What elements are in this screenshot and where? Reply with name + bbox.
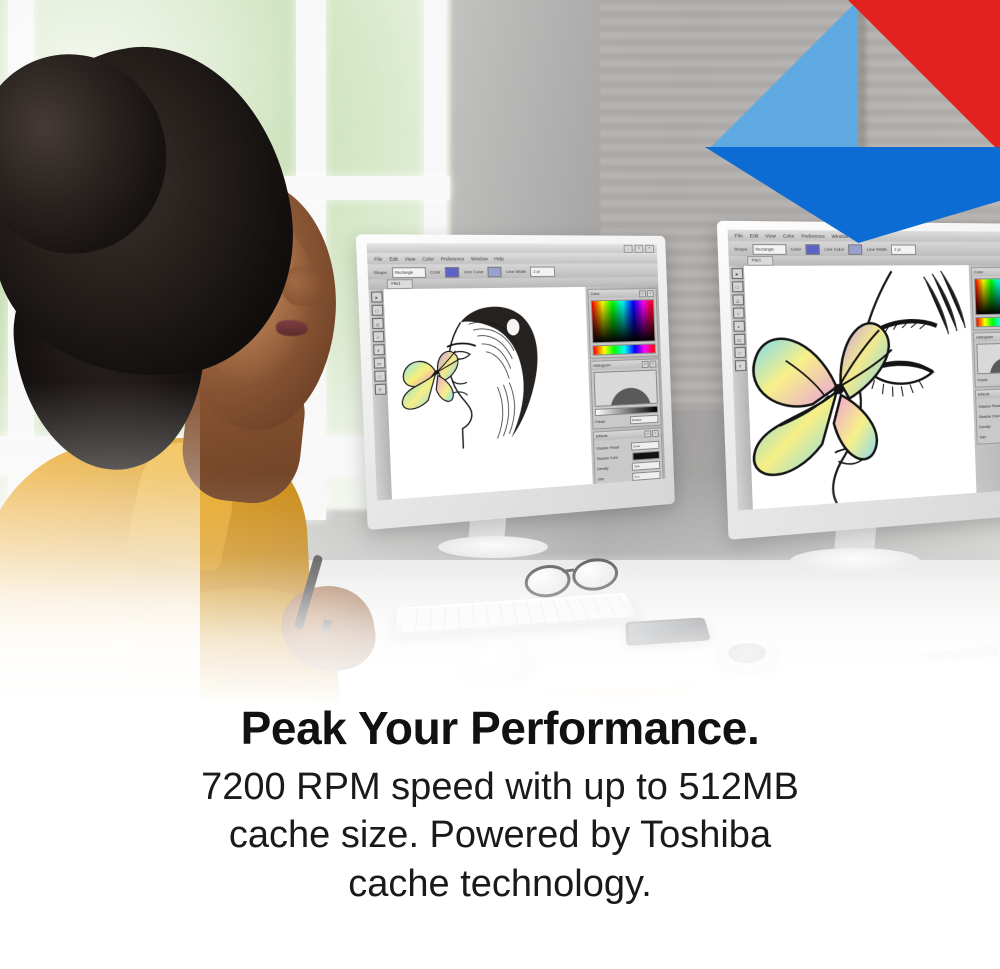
preset-select[interactable]: Default — [630, 415, 658, 425]
close-icon[interactable]: × — [647, 290, 654, 297]
menu-edit[interactable]: Edit — [750, 233, 759, 239]
drawing-app-window-right: File Edit View Color Preference Window H… — [728, 230, 1000, 511]
monitor-screen-left: _ □ × File Edit View Color Preference Wi… — [367, 243, 666, 501]
collapse-icon[interactable]: ▭ — [639, 290, 646, 297]
sketch-woman-with-butterfly — [383, 287, 591, 474]
drawing-app-window-left: _ □ × File Edit View Color Preference Wi… — [367, 243, 666, 501]
preset-label: Preset — [595, 420, 605, 425]
hue-slider[interactable] — [592, 343, 655, 355]
pointer-tool-icon[interactable]: ➤ — [731, 268, 743, 279]
text-tool-icon[interactable]: T — [734, 360, 746, 371]
product-marketing-image: _ □ × File Edit View Color Preference Wi… — [0, 0, 1000, 969]
color-panel-title: Color — [974, 270, 983, 274]
app-titlebar: _ □ × — [367, 243, 657, 253]
histogram-panel-title: Histogram — [593, 363, 610, 368]
menu-view[interactable]: View — [405, 256, 416, 261]
line-width-input[interactable]: 2 pt — [530, 266, 555, 277]
hue-slider[interactable] — [975, 316, 1000, 327]
histogram-graph — [976, 342, 1000, 374]
histogram-curve — [980, 348, 1000, 373]
effects-panel-title: Effects — [596, 434, 608, 439]
menu-preference[interactable]: Preference — [440, 256, 464, 261]
frame-tool-icon[interactable]: ▭ — [733, 334, 745, 345]
close-icon[interactable]: × — [652, 429, 659, 436]
color-panel: Color × — [971, 267, 1000, 331]
histogram-panel-title: Histogram — [976, 335, 993, 340]
collapse-icon[interactable]: ▭ — [642, 360, 649, 367]
drawing-canvas-left[interactable] — [383, 287, 592, 500]
color-label: Color — [430, 269, 441, 274]
menu-color[interactable]: Color — [422, 256, 434, 261]
saturation-value-field[interactable] — [974, 278, 1000, 315]
color-label: Color — [790, 246, 801, 251]
ellipse-tool-icon[interactable]: ○ — [732, 307, 744, 318]
menu-preference[interactable]: Preference — [801, 233, 825, 239]
minimize-button[interactable]: _ — [624, 244, 633, 252]
line-color-swatch[interactable] — [488, 266, 502, 277]
line-width-label: Line Width — [506, 269, 526, 274]
shape-select[interactable]: Rectangle — [752, 243, 786, 254]
effects-panel-title: Effects — [978, 392, 990, 397]
marketing-copy: Peak Your Performance. 7200 RPM speed wi… — [0, 704, 1000, 909]
app-panels-left: Color ▭ × — [585, 286, 665, 484]
person-lips — [276, 320, 308, 336]
menu-view[interactable]: View — [765, 233, 776, 238]
shadow-color-label: Shadow Color — [597, 456, 618, 462]
shadow-color-swatch[interactable] — [632, 451, 659, 461]
menu-help[interactable]: Help — [494, 256, 504, 261]
page-title: Peak Your Performance. — [0, 704, 1000, 753]
line-color-label: Line Color — [464, 269, 484, 274]
histogram-panel: Histogram Preset Default — [973, 331, 1000, 387]
color-panel-header: Color × — [972, 268, 1000, 276]
histogram-graph — [593, 370, 657, 407]
color-panel-title: Color — [590, 292, 599, 296]
photo-left-fade — [0, 380, 200, 720]
document-tab[interactable]: File1 — [747, 256, 774, 266]
monitor-screen-right: File Edit View Color Preference Window H… — [728, 230, 1000, 511]
effects-panel-body: Shadow Preset Outer Shadow Color Density — [976, 396, 1000, 443]
close-icon[interactable]: × — [649, 360, 656, 367]
shape-label: Shape — [734, 246, 748, 252]
close-button[interactable]: × — [645, 244, 654, 252]
effects-panel: Effects Shadow Preset Outer Shadow Color — [975, 387, 1000, 444]
app-toolbar: Shape Rectangle Color Line Color Line Wi… — [728, 241, 1000, 256]
density-label: Density — [979, 425, 990, 430]
histogram-panel-body: Preset Default — [974, 340, 1000, 386]
collapse-icon[interactable]: ▭ — [644, 430, 651, 437]
menu-file[interactable]: File — [735, 232, 743, 238]
shadow-preset-select[interactable]: Outer — [631, 441, 659, 451]
color-panel-body — [972, 276, 1000, 329]
square-tool-icon[interactable]: □ — [734, 347, 746, 358]
shadow-color-label: Shadow Color — [979, 414, 1000, 419]
saturation-value-field[interactable] — [591, 299, 656, 343]
maximize-button[interactable]: □ — [634, 244, 643, 252]
histogram-panel-body: Preset Default — [591, 367, 660, 428]
shadow-preset-label: Shadow Preset — [596, 445, 619, 451]
menu-window[interactable]: Window — [831, 233, 848, 238]
subtext-line-1: 7200 RPM speed with up to 512MB — [0, 763, 1000, 812]
rectangle-tool-icon[interactable]: □ — [731, 281, 743, 292]
line-width-input[interactable]: 2 pt — [891, 244, 916, 254]
line-width-label: Line Width — [867, 246, 887, 251]
color-panel: Color ▭ × — [587, 288, 659, 359]
triangle-tool-icon[interactable]: △ — [732, 294, 744, 305]
shadow-preset-label: Shadow Preset — [978, 404, 1000, 409]
menu-window[interactable]: Window — [471, 256, 488, 261]
color-panel-body — [589, 297, 658, 358]
subtext-line-3: cache technology. — [0, 860, 1000, 909]
menu-color[interactable]: Color — [783, 233, 795, 238]
menu-help[interactable]: Help — [855, 233, 865, 238]
histogram-panel: Histogram ▭ × — [590, 358, 661, 429]
line-color-swatch[interactable] — [848, 244, 862, 255]
size-label: Size — [979, 435, 986, 439]
fill-color-swatch[interactable] — [805, 244, 820, 255]
zoom-tool-icon[interactable]: ⌕ — [733, 321, 745, 332]
fill-color-swatch[interactable] — [445, 266, 460, 277]
lifestyle-photo: _ □ × File Edit View Color Preference Wi… — [0, 0, 1000, 720]
preset-label: Preset — [978, 378, 988, 382]
histogram-curve — [598, 376, 653, 406]
subtext-line-2: cache size. Powered by Toshiba — [0, 811, 1000, 860]
app-body: ➤ □ △ ○ ⌕ ▭ □ T — [368, 286, 665, 501]
line-color-label: Line Color — [824, 246, 844, 251]
